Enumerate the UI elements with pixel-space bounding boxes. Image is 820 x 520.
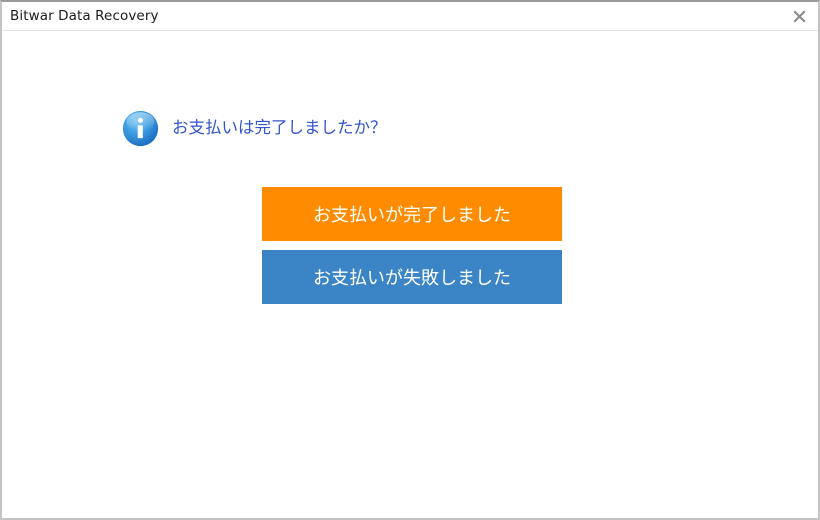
dialog-message: お支払いは完了しましたか？: [172, 120, 387, 137]
dialog-content: お支払いは完了しましたか？ お支払いが完了しました お支払いが失敗しました: [2, 31, 818, 518]
window-title: Bitwar Data Recovery: [10, 2, 159, 30]
payment-failed-button[interactable]: お支払いが失敗しました: [262, 250, 562, 304]
message-row: お支払いは完了しましたか？: [122, 110, 387, 147]
close-icon: [793, 10, 806, 23]
dialog-window: Bitwar Data Recovery: [0, 0, 820, 520]
info-icon: [122, 110, 159, 147]
title-bar: Bitwar Data Recovery: [2, 2, 818, 31]
close-button[interactable]: [784, 2, 814, 30]
payment-completed-button[interactable]: お支払いが完了しました: [262, 187, 562, 241]
